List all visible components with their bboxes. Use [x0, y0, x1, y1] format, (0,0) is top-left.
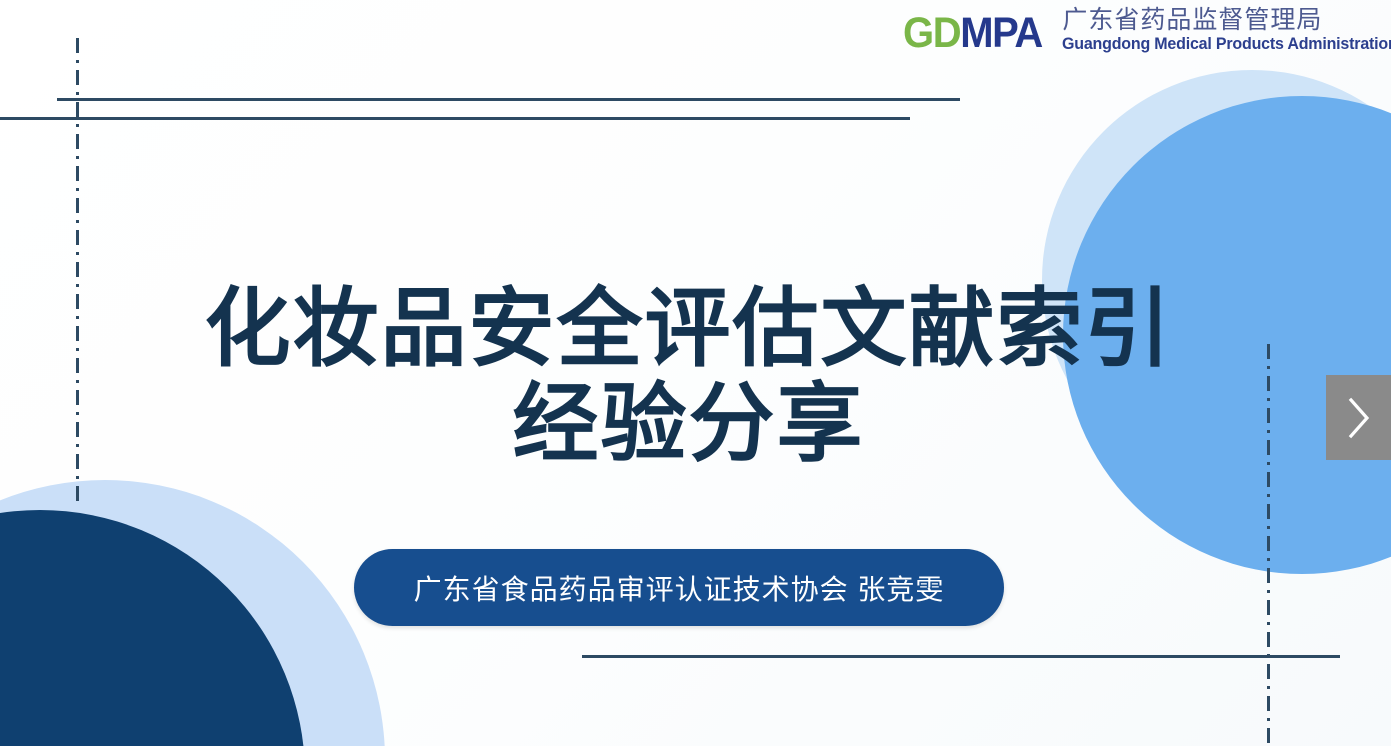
logo-name-block: 广东省药品监督管理局 Guangdong Medical Products Ad… — [1062, 4, 1391, 54]
decorative-rule-top-upper — [57, 98, 960, 101]
chevron-right-icon — [1346, 397, 1372, 439]
decorative-dashdot-line-right — [1267, 344, 1270, 746]
presenter-label: 广东省食品药品审评认证技术协会 张竞雯 — [414, 568, 945, 608]
decorative-circle-top-right-blue — [1063, 96, 1391, 574]
gdmpa-logo: GDMPA 广东省药品监督管理局 Guangdong Medical Produ… — [903, 4, 1391, 70]
presenter-badge: 广东省食品药品审评认证技术协会 张竞雯 — [354, 549, 1004, 626]
next-slide-button[interactable] — [1326, 375, 1391, 460]
logo-wordmark-mpa: MPA — [960, 9, 1042, 57]
title-line-1: 化妆品安全评估文献索引 — [0, 282, 1391, 377]
page-title: 化妆品安全评估文献索引 经验分享 — [0, 282, 1391, 472]
decorative-rule-top-lower — [0, 117, 910, 120]
logo-wordmark: GDMPA — [903, 4, 1042, 57]
decorative-circle-bottom-left-light — [0, 480, 385, 746]
logo-wordmark-gd: GD — [903, 9, 960, 57]
decorative-dashdot-line-left — [76, 38, 79, 504]
decorative-rule-bottom — [582, 655, 1340, 658]
title-line-2: 经验分享 — [0, 377, 1391, 472]
presentation-slide: GDMPA 广东省药品监督管理局 Guangdong Medical Produ… — [0, 0, 1391, 746]
logo-name-chinese: 广东省药品监督管理局 — [1062, 6, 1391, 35]
decorative-circle-bottom-left-navy — [0, 510, 305, 746]
logo-name-english: Guangdong Medical Products Administratio… — [1062, 35, 1391, 54]
